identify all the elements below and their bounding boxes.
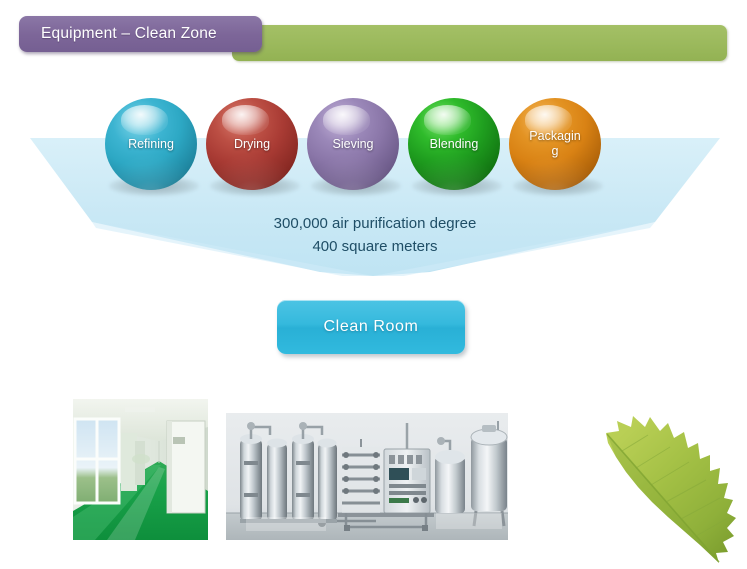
sphere-drying[interactable]: Drying <box>206 98 298 190</box>
slide-canvas: Equipment – Clean Zone Refining Drying <box>0 0 747 569</box>
water-purification-equipment-photo <box>226 413 508 540</box>
caption-line-2: 400 square meters <box>180 235 570 258</box>
leaf-decoration-icon <box>588 405 740 565</box>
sphere-sieving[interactable]: Sieving <box>307 98 399 190</box>
process-step-drying[interactable]: Drying <box>206 98 298 194</box>
clean-room-button-label: Clean Room <box>324 318 419 336</box>
process-step-blending[interactable]: Blending <box>408 98 500 194</box>
sphere-packaging[interactable]: Packaging <box>509 98 601 190</box>
header-title-box: Equipment – Clean Zone <box>19 16 262 52</box>
sphere-label-blending: Blending <box>422 137 486 152</box>
sphere-gloss <box>222 105 270 134</box>
sphere-label-drying: Drying <box>220 137 284 152</box>
sphere-gloss <box>323 105 371 134</box>
header-green-bar <box>232 25 727 61</box>
sphere-blending[interactable]: Blending <box>408 98 500 190</box>
sphere-gloss <box>424 105 472 134</box>
sphere-label-sieving: Sieving <box>321 137 385 152</box>
page-title: Equipment – Clean Zone <box>19 25 217 43</box>
sphere-refining[interactable]: Refining <box>105 98 197 190</box>
process-step-packaging[interactable]: Packaging <box>509 98 601 194</box>
cleanroom-corridor-photo <box>73 399 208 540</box>
sphere-gloss <box>121 105 169 134</box>
process-step-refining[interactable]: Refining <box>105 98 197 194</box>
caption-line-1: 300,000 air purification degree <box>180 212 570 235</box>
sphere-label-refining: Refining <box>119 137 183 152</box>
clean-room-button[interactable]: Clean Room <box>277 300 465 354</box>
sphere-label-packaging: Packaging <box>527 129 583 159</box>
clean-zone-caption: 300,000 air purification degree 400 squa… <box>180 212 570 258</box>
process-step-sieving[interactable]: Sieving <box>307 98 399 194</box>
